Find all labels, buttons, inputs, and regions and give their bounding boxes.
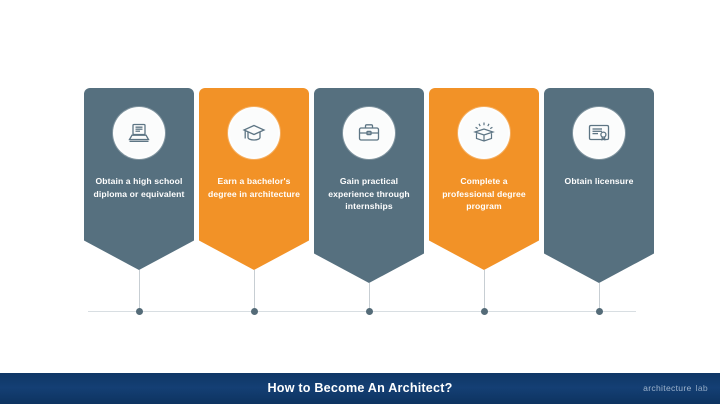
step-stem-1 xyxy=(139,270,140,311)
step-pointer-4 xyxy=(429,240,539,270)
step-stem-4 xyxy=(484,270,485,311)
timeline-dot-5[interactable] xyxy=(596,308,603,315)
step-card-3[interactable]: Gain practical experience through intern… xyxy=(314,88,424,283)
brand-primary-text: architecture xyxy=(643,383,692,393)
step-card-1[interactable]: Obtain a high school diploma or equivale… xyxy=(84,88,194,270)
step-label-3: Gain practical experience through intern… xyxy=(314,175,424,227)
timeline-dot-2[interactable] xyxy=(251,308,258,315)
timeline-dot-3[interactable] xyxy=(366,308,373,315)
step-card-body-5: Obtain licensure xyxy=(544,88,654,253)
certificate-seal-icon xyxy=(573,107,625,159)
brand-logo: architecture lab xyxy=(643,371,708,404)
laptop-document-icon xyxy=(113,107,165,159)
graduation-cap-icon xyxy=(228,107,280,159)
step-stem-5 xyxy=(599,283,600,311)
step-card-2[interactable]: Earn a bachelor's degree in architecture xyxy=(199,88,309,270)
step-card-body-1: Obtain a high school diploma or equivale… xyxy=(84,88,194,240)
step-stem-2 xyxy=(254,270,255,311)
step-card-4[interactable]: Complete a professional degree program xyxy=(429,88,539,270)
step-label-5: Obtain licensure xyxy=(557,175,642,202)
step-pointer-2 xyxy=(199,240,309,270)
footer-bar: How to Become An Architect? architecture… xyxy=(0,371,720,404)
slide-canvas: Obtain a high school diploma or equivale… xyxy=(0,0,720,404)
step-pointer-5 xyxy=(544,253,654,283)
step-card-body-2: Earn a bachelor's degree in architecture xyxy=(199,88,309,240)
steps-container: Obtain a high school diploma or equivale… xyxy=(0,0,720,300)
open-box-burst-icon xyxy=(458,107,510,159)
step-pointer-1 xyxy=(84,240,194,270)
timeline-dot-4[interactable] xyxy=(481,308,488,315)
step-stem-3 xyxy=(369,283,370,311)
step-card-body-4: Complete a professional degree program xyxy=(429,88,539,240)
step-label-4: Complete a professional degree program xyxy=(429,175,539,227)
step-card-body-3: Gain practical experience through intern… xyxy=(314,88,424,253)
briefcase-icon xyxy=(343,107,395,159)
timeline-dot-1[interactable] xyxy=(136,308,143,315)
slide-title: How to Become An Architect? xyxy=(0,371,720,404)
step-card-5[interactable]: Obtain licensure xyxy=(544,88,654,283)
timeline-axis xyxy=(88,311,636,312)
step-label-2: Earn a bachelor's degree in architecture xyxy=(199,175,309,214)
brand-secondary-text: lab xyxy=(696,383,708,393)
step-pointer-3 xyxy=(314,253,424,283)
step-label-1: Obtain a high school diploma or equivale… xyxy=(84,175,194,214)
